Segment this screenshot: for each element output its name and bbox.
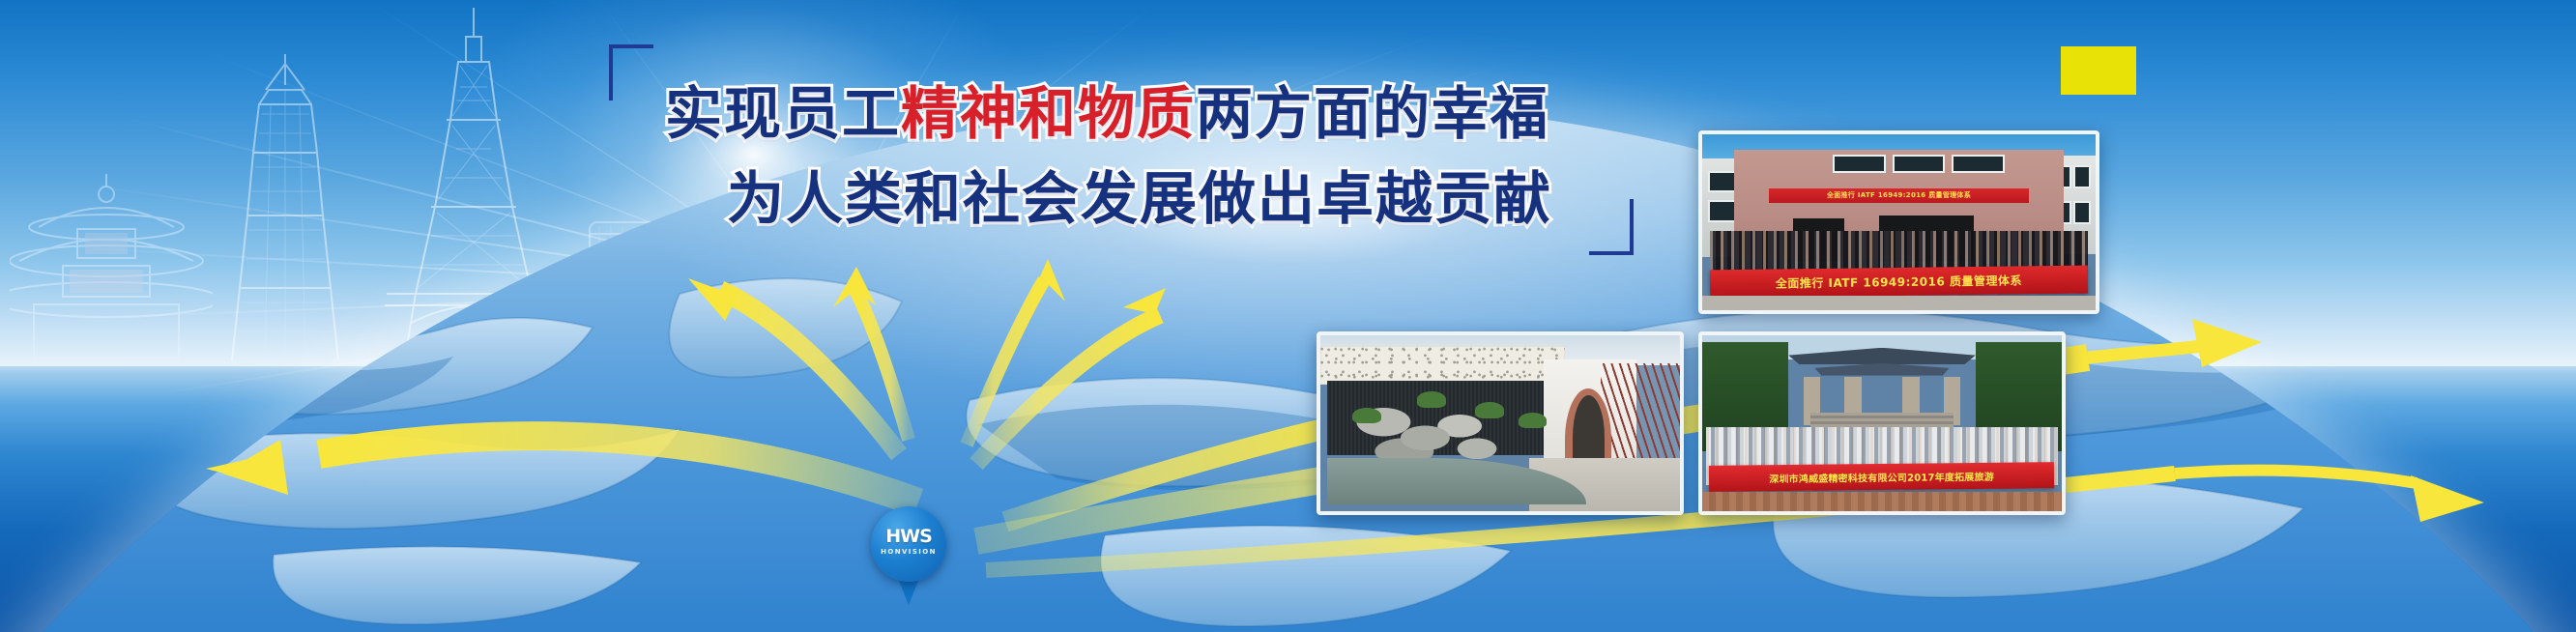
- corner-bracket-top-left: [609, 44, 653, 101]
- company-outing-photo[interactable]: 深圳市鸿威盛精密科技有限公司2017年度拓展旅游: [1698, 331, 2066, 515]
- photo-ground: [1702, 296, 2096, 310]
- corporate-culture-banner: 实现员工精神和物质两方面的幸福 为人类和社会发展做出卓越贡献: [0, 0, 2576, 632]
- honvision-wordmark: HONVISION: [871, 549, 946, 556]
- iatf-group-photo[interactable]: 全面推行 IATF 16949:2016 质量管理体系 全面推行 IATF 16…: [1698, 130, 2099, 314]
- outing-banner: 深圳市鸿威盛精密科技有限公司2017年度拓展旅游: [1709, 462, 2054, 492]
- hws-monogram: HWS: [871, 528, 946, 546]
- honvision-location-pin[interactable]: HWS HONVISION: [871, 506, 946, 605]
- company-garden-photo[interactable]: [1317, 331, 1684, 515]
- garden-speckled-wall: [1320, 346, 1565, 385]
- corner-bracket-bottom-right: [1589, 199, 1634, 255]
- garden-pergola: [1601, 363, 1680, 458]
- photo-wall-banner: 全面推行 IATF 16949:2016 质量管理体系: [1769, 188, 2029, 203]
- slogan-block: 实现员工精神和物质两方面的幸福 为人类和社会发展做出卓越贡献: [609, 44, 1634, 257]
- slogan-line-1-highlight: 精神和物质: [901, 80, 1196, 147]
- outing-ground: [1702, 492, 2062, 511]
- slogan-line-2-text: 为人类和社会发展做出卓越贡献: [727, 165, 1552, 232]
- photo-held-banner: 全面推行 IATF 16949:2016 质量管理体系: [1710, 266, 2088, 299]
- slogan-line-2: 为人类和社会发展做出卓越贡献: [727, 153, 1552, 235]
- slogan-line-1: 实现员工精神和物质两方面的幸福: [665, 68, 1549, 150]
- slogan-line-1-part-1: 实现员工: [665, 80, 901, 147]
- slogan-line-1-part-3: 两方面的幸福: [1196, 80, 1549, 147]
- yellow-decor-square: [2061, 46, 2136, 95]
